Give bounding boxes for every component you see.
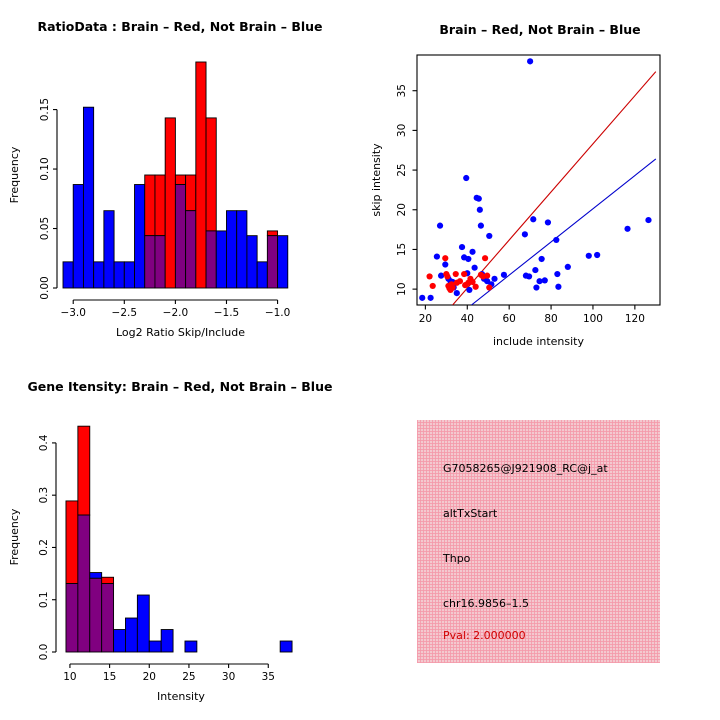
scatter-points-group bbox=[419, 58, 656, 305]
svg-scatter-content: 101520253035skip intensity20406080100120… bbox=[370, 55, 660, 348]
y-tick-label: 15 bbox=[396, 243, 408, 256]
scatter-point bbox=[527, 58, 533, 64]
hist-bar bbox=[226, 211, 236, 288]
x-tick-label: 25 bbox=[182, 671, 195, 683]
scatter-point bbox=[469, 249, 475, 255]
svg-gene-content: 0.00.10.20.30.4Frequency101520253035Inte… bbox=[8, 426, 292, 703]
scatter-point bbox=[437, 223, 443, 229]
scatter-point bbox=[486, 284, 492, 290]
x-tick-label: −2.0 bbox=[163, 307, 189, 319]
x-tick-label: 40 bbox=[461, 313, 474, 325]
gene-histogram-svg: 0.00.10.20.30.4Frequency101520253035Inte… bbox=[0, 360, 360, 720]
scatter-point bbox=[478, 223, 484, 229]
scatter-point bbox=[473, 284, 479, 290]
hist-bar bbox=[137, 595, 149, 652]
scatter-point bbox=[624, 226, 630, 232]
hist-bar bbox=[247, 236, 257, 288]
hist-bar bbox=[280, 641, 292, 652]
plot-frame bbox=[417, 55, 660, 305]
hist-bar bbox=[104, 211, 114, 288]
x-tick-label: 10 bbox=[63, 671, 76, 683]
scatter-point bbox=[442, 255, 448, 261]
x-axis-label: Intensity bbox=[157, 690, 205, 703]
gene-histogram-panel: Gene Itensity: Brain – Red, Not Brain – … bbox=[0, 360, 360, 720]
scatter-point bbox=[501, 272, 507, 278]
hist-bar bbox=[94, 262, 104, 288]
scatter-panel: Brain – Red, Not Brain – Blue 1015202530… bbox=[360, 0, 720, 360]
location-text: chr16.9856–1.5 bbox=[443, 597, 529, 610]
scatter-point bbox=[419, 295, 425, 301]
scatter-point bbox=[457, 278, 463, 284]
hist-bar bbox=[83, 107, 93, 288]
hist-bar bbox=[267, 231, 277, 236]
hist-bar bbox=[135, 185, 145, 288]
y-tick-label: 0.2 bbox=[38, 539, 50, 556]
scatter-point bbox=[430, 283, 436, 289]
y-tick-label: 0.05 bbox=[39, 217, 51, 240]
x-tick-label: 100 bbox=[583, 313, 603, 325]
not-brain-fit-line bbox=[471, 159, 655, 305]
y-tick-label: 0.4 bbox=[38, 434, 50, 451]
y-tick-label: 0.00 bbox=[39, 276, 51, 299]
scatter-point bbox=[472, 265, 478, 271]
scatter-point bbox=[533, 284, 539, 290]
hist-bar bbox=[165, 118, 175, 288]
gene-info-panel: G7058265@J921908_RC@j_at altTxStart Thpo… bbox=[360, 360, 720, 720]
scatter-point bbox=[486, 233, 492, 239]
scatter-point bbox=[454, 290, 460, 296]
hist-bar bbox=[186, 175, 196, 211]
scatter-point bbox=[465, 256, 471, 262]
hist-bar-overlap bbox=[90, 578, 102, 652]
scatter-point bbox=[459, 244, 465, 250]
x-tick-label: 15 bbox=[103, 671, 116, 683]
hist-bar bbox=[206, 118, 216, 231]
scatter-point bbox=[450, 284, 456, 290]
hist-bar bbox=[149, 641, 161, 652]
hist-bar-overlap bbox=[102, 584, 114, 652]
hist-bar bbox=[114, 262, 124, 288]
hist-bar bbox=[237, 211, 247, 288]
scatter-point bbox=[466, 287, 472, 293]
y-tick-label: 20 bbox=[396, 203, 408, 216]
hist-bar-overlap bbox=[66, 584, 78, 652]
scatter-point bbox=[594, 252, 600, 258]
scatter-point bbox=[434, 253, 440, 259]
x-tick-label: 20 bbox=[419, 313, 432, 325]
scatter-point bbox=[453, 271, 459, 277]
scatter-point bbox=[553, 237, 559, 243]
hist-bar bbox=[63, 262, 73, 288]
y-tick-label: 0.3 bbox=[38, 487, 50, 504]
scatter-point bbox=[545, 219, 551, 225]
y-axis-label: Frequency bbox=[8, 508, 21, 565]
hist-bar bbox=[125, 618, 137, 652]
event-type-text: altTxStart bbox=[443, 507, 497, 520]
y-tick-label: 25 bbox=[396, 163, 408, 176]
y-tick-label: 0.15 bbox=[39, 98, 51, 121]
scatter-point bbox=[586, 253, 592, 259]
scatter-point bbox=[461, 271, 467, 277]
scatter-point bbox=[426, 273, 432, 279]
probeset-id-text: G7058265@J921908_RC@j_at bbox=[443, 462, 608, 475]
scatter-point bbox=[532, 267, 538, 273]
svg-ratio-content: 0.000.050.100.15Frequency−3.0−2.5−2.0−1.… bbox=[8, 62, 290, 339]
scatter-point bbox=[645, 217, 651, 223]
y-axis-label: skip intensity bbox=[370, 143, 383, 217]
hist-bar bbox=[90, 573, 102, 579]
scatter-point bbox=[565, 264, 571, 270]
hist-bar-overlap bbox=[145, 236, 155, 288]
x-tick-label: −1.0 bbox=[265, 307, 291, 319]
scatter-point bbox=[542, 277, 548, 283]
x-tick-label: −1.5 bbox=[214, 307, 240, 319]
hist-bar-overlap bbox=[206, 231, 216, 288]
hist-bar bbox=[145, 175, 155, 236]
scatter-point bbox=[555, 284, 561, 290]
hist-bar bbox=[278, 236, 288, 288]
pvalue-text: Pval: 2.000000 bbox=[443, 629, 526, 642]
scatter-point bbox=[477, 207, 483, 213]
hist-bar bbox=[257, 262, 267, 288]
scatter-point bbox=[476, 196, 482, 202]
hist-bar bbox=[66, 501, 78, 584]
hist-bar-overlap bbox=[186, 211, 196, 288]
scatter-point bbox=[554, 271, 560, 277]
ratio-histogram-title: RatioData : Brain – Red, Not Brain – Blu… bbox=[0, 19, 360, 34]
x-tick-label: −2.5 bbox=[112, 307, 138, 319]
hist-bar bbox=[175, 175, 185, 185]
gene-symbol-text: Thpo bbox=[443, 552, 470, 565]
scatter-point bbox=[539, 256, 545, 262]
hist-bar bbox=[124, 262, 134, 288]
scatter-point bbox=[438, 273, 444, 279]
scatter-point bbox=[428, 295, 434, 301]
scatter-point bbox=[444, 273, 450, 279]
x-tick-label: 20 bbox=[143, 671, 156, 683]
scatter-svg: 101520253035skip intensity20406080100120… bbox=[360, 0, 720, 360]
hist-bar bbox=[102, 577, 114, 583]
scatter-point bbox=[442, 261, 448, 267]
hist-bar bbox=[216, 231, 226, 288]
x-tick-label: −3.0 bbox=[60, 307, 86, 319]
scatter-point bbox=[484, 273, 490, 279]
hist-bar bbox=[73, 185, 83, 288]
x-tick-label: 80 bbox=[544, 313, 557, 325]
scatter-point bbox=[482, 255, 488, 261]
scatter-point bbox=[463, 175, 469, 181]
x-tick-label: 120 bbox=[625, 313, 645, 325]
gene-info-box: G7058265@J921908_RC@j_at altTxStart Thpo… bbox=[417, 420, 660, 663]
scatter-point bbox=[536, 278, 542, 284]
y-tick-label: 35 bbox=[396, 84, 408, 97]
y-tick-label: 0.10 bbox=[39, 157, 51, 180]
hist-bar-overlap bbox=[175, 185, 185, 288]
y-tick-label: 0.0 bbox=[38, 644, 50, 661]
y-tick-label: 10 bbox=[396, 282, 408, 295]
hist-bar-overlap bbox=[78, 515, 90, 652]
scatter-title: Brain – Red, Not Brain – Blue bbox=[360, 22, 720, 37]
gene-histogram-title: Gene Itensity: Brain – Red, Not Brain – … bbox=[0, 379, 360, 394]
hist-bar bbox=[161, 630, 173, 652]
scatter-point bbox=[526, 273, 532, 279]
x-axis-label: include intensity bbox=[493, 335, 585, 348]
y-axis-label: Frequency bbox=[8, 146, 21, 203]
x-axis-label: Log2 Ratio Skip/Include bbox=[116, 326, 245, 339]
scatter-point bbox=[491, 276, 497, 282]
y-tick-label: 0.1 bbox=[38, 591, 50, 608]
hist-bar bbox=[185, 641, 197, 652]
x-tick-label: 35 bbox=[262, 671, 275, 683]
hist-bar bbox=[114, 630, 126, 652]
y-tick-label: 30 bbox=[396, 124, 408, 137]
hist-bar bbox=[155, 175, 165, 236]
ratio-histogram-svg: 0.000.050.100.15Frequency−3.0−2.5−2.0−1.… bbox=[0, 0, 360, 360]
ratio-histogram-panel: RatioData : Brain – Red, Not Brain – Blu… bbox=[0, 0, 360, 360]
scatter-point bbox=[530, 216, 536, 222]
x-tick-label: 30 bbox=[222, 671, 235, 683]
scatter-point bbox=[522, 231, 528, 237]
hist-bar bbox=[78, 426, 90, 515]
hist-bar-overlap bbox=[267, 236, 277, 288]
hist-bar-overlap bbox=[155, 236, 165, 288]
x-tick-label: 60 bbox=[502, 313, 515, 325]
brain-fit-line bbox=[453, 72, 656, 305]
hist-bar bbox=[196, 62, 206, 288]
